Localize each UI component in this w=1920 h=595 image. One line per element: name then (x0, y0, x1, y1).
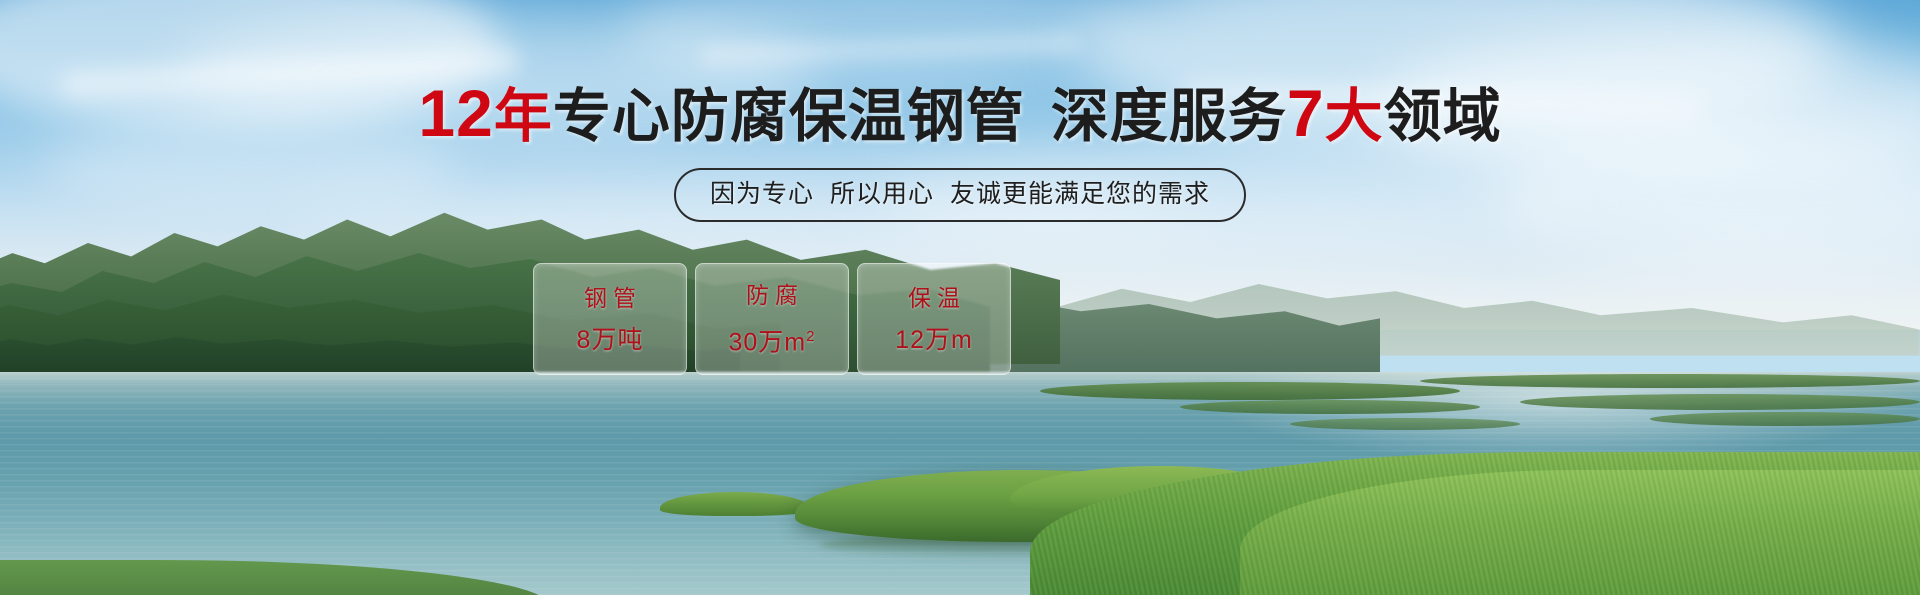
stat-card-value: 8万吨 (577, 326, 644, 354)
stat-card-title: 钢管 (578, 284, 642, 312)
marsh-strip (1650, 412, 1920, 426)
marsh-strip (1420, 374, 1920, 388)
headline-service-text: 深度服务 (1051, 84, 1287, 149)
small-islet (660, 492, 810, 516)
stat-card-insulation: 保温 12万m (857, 263, 1011, 375)
banner-subtitle-wrapper: 因为专心所以用心友诚更能满足您的需求 (0, 168, 1920, 222)
stat-value-text: 8万吨 (577, 326, 644, 354)
headline-main-text: 专心防腐保温钢管 (553, 84, 1025, 149)
marsh-strip (1180, 400, 1480, 414)
marsh-strip (1290, 418, 1520, 430)
headline-years-number: 12 (418, 76, 493, 150)
stat-value-text: 30万m (729, 329, 807, 357)
stat-value-superscript: 2 (806, 328, 815, 345)
hero-banner: 12年专心防腐保温钢管深度服务7大领域 因为专心所以用心友诚更能满足您的需求 钢… (0, 0, 1920, 595)
stat-value-text: 12万m (895, 326, 973, 354)
banner-subtitle-pill: 因为专心所以用心友诚更能满足您的需求 (674, 168, 1246, 222)
stat-card-anticorrosion: 防腐 30万m2 (695, 263, 849, 375)
stat-card-steel-pipe: 钢管 8万吨 (533, 263, 687, 375)
marsh-strip (1520, 394, 1920, 410)
headline-years-unit: 年 (494, 84, 553, 149)
headline-fields-unit: 大 (1325, 84, 1384, 149)
stat-card-group: 钢管 8万吨 防腐 30万m2 保温 12万m (533, 263, 1011, 375)
headline-fields-text: 领域 (1384, 84, 1502, 149)
subtitle-part-1: 因为专心 (710, 180, 814, 208)
marsh-strip (1040, 382, 1460, 400)
headline-fields-number: 7 (1287, 76, 1325, 150)
stat-card-value: 30万m2 (729, 323, 816, 356)
stat-card-title: 防腐 (740, 281, 804, 309)
banner-headline: 12年专心防腐保温钢管深度服务7大领域 (0, 82, 1920, 148)
subtitle-part-3: 友诚更能满足您的需求 (950, 180, 1210, 208)
stat-card-title: 保温 (902, 284, 966, 312)
stat-card-value: 12万m (895, 326, 973, 354)
subtitle-part-2: 所以用心 (830, 180, 934, 208)
